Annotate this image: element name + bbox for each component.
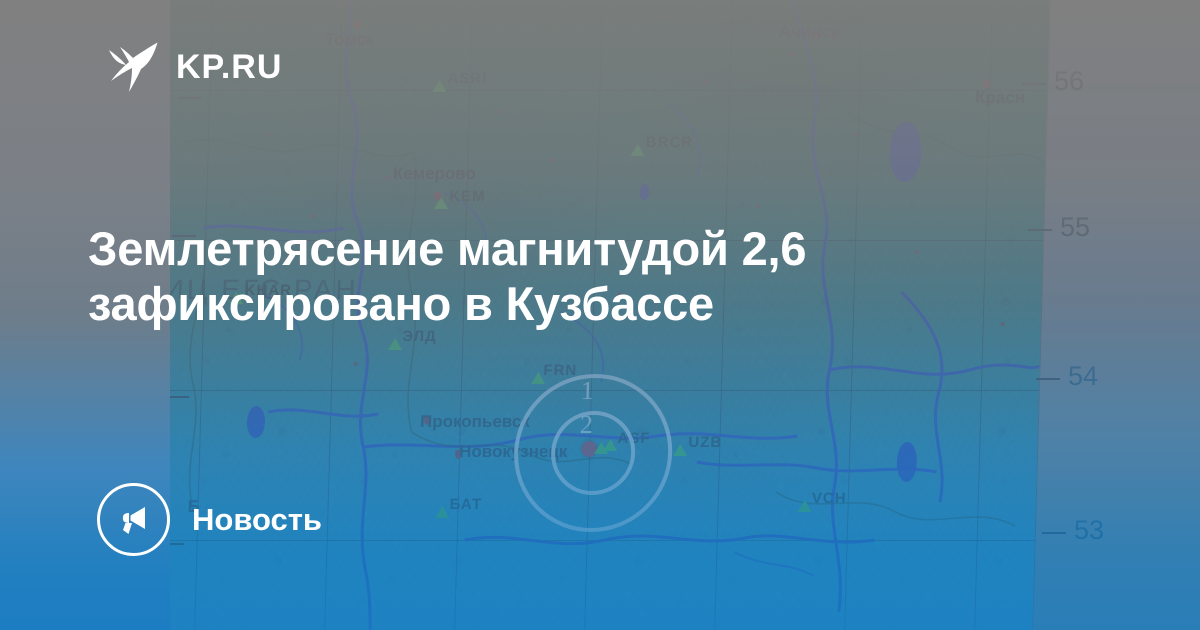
city-label-kemerovo: Кемерово (393, 164, 477, 184)
city-label-krasnoyarsk: Красн (975, 88, 1025, 108)
station-label-uzb: UZB (688, 434, 722, 451)
megaphone-icon (97, 483, 170, 556)
town-dot (354, 362, 358, 366)
town-dot (312, 214, 316, 218)
station-marker-brcr (630, 144, 644, 156)
lat-tick-right-53 (1042, 532, 1066, 534)
brand-logo[interactable]: KP.RU (100, 36, 282, 98)
lat-label-right-53: 53 (1074, 515, 1104, 546)
station-label-asri: ASRI (447, 70, 487, 87)
station-marker-asri (432, 80, 446, 92)
page-title: Землетрясение магнитудой 2,6 зафиксирова… (88, 222, 1028, 332)
station-marker-bat (435, 506, 449, 518)
city-label-prokopyevsk: Прокопьевск (420, 412, 530, 432)
station-label-bat: БАТ (449, 496, 482, 513)
town-dot (854, 132, 858, 136)
town-dot (266, 132, 270, 136)
station-marker-uzb (673, 444, 687, 456)
station-marker-eld (388, 338, 402, 350)
lat-label-right-55: 55 (1060, 212, 1090, 243)
swallow-bird-icon (100, 36, 162, 98)
town-dot (756, 204, 760, 208)
headline-line-1: Землетрясение магнитудой 2,6 (88, 222, 1028, 277)
city-label-achinsk: Ачинск (779, 22, 840, 42)
status-badge-label: Новость (192, 502, 322, 538)
lat-tick-right-55 (1028, 229, 1052, 231)
station-label-vch: VCH (812, 490, 847, 507)
station-label-brcr: BRCR (646, 134, 694, 151)
town-dot (499, 110, 503, 114)
station-marker-vch (797, 500, 811, 512)
lat-label-right-56: 56 (1054, 66, 1084, 97)
epicenter-ring-label-1: 1 (580, 376, 594, 406)
city-label-tomsk: Томск (324, 30, 374, 50)
lat-tick-right-54 (1036, 378, 1060, 380)
station-label-kem: KEM (449, 188, 486, 205)
town-dot (703, 80, 707, 84)
epicenter-ring-label-2: 2 (579, 410, 593, 440)
brand-name: KP.RU (176, 48, 282, 87)
town-dot (387, 176, 391, 180)
town-dot (790, 52, 794, 56)
headline-line-2: зафиксировано в Кузбассе (88, 277, 1028, 332)
station-marker-epicenter (594, 442, 608, 454)
town-dot (549, 158, 553, 162)
lat-label-right-54: 54 (1068, 361, 1098, 392)
status-badge[interactable]: Новость (97, 483, 322, 556)
lat-tick-right-56 (1022, 83, 1046, 85)
social-share-card: ИЦ ЕГС РАН ASRI BRCR KEM KHAR FRN ASF UZ… (0, 0, 1200, 630)
